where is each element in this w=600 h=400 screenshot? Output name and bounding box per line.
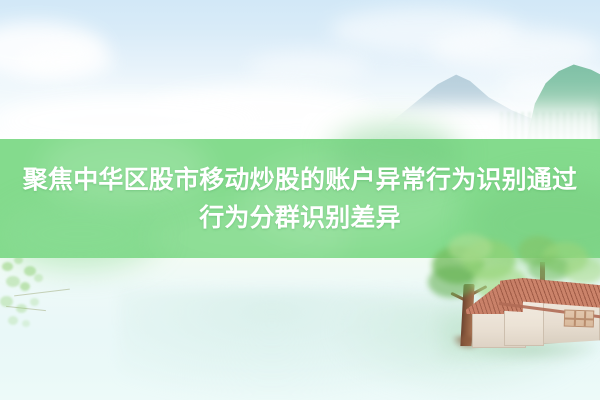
cloud-icon [430, 28, 600, 70]
banner-image: 聚焦中华区股市移动炒股的账户异常行为识别通过 行为分群识别差异 [0, 0, 600, 400]
banner-title: 聚焦中华区股市移动炒股的账户异常行为识别通过 行为分群识别差异 [0, 139, 600, 258]
title-line-1: 聚焦中华区股市移动炒股的账户异常行为识别通过 [23, 161, 577, 199]
farmhouse-group [468, 278, 600, 356]
cloud-icon [248, 52, 368, 82]
cloud-icon [18, 44, 114, 80]
title-line-2: 行为分群识别差异 [199, 199, 401, 237]
house-window [564, 309, 595, 327]
farmhouse-front [504, 278, 600, 354]
